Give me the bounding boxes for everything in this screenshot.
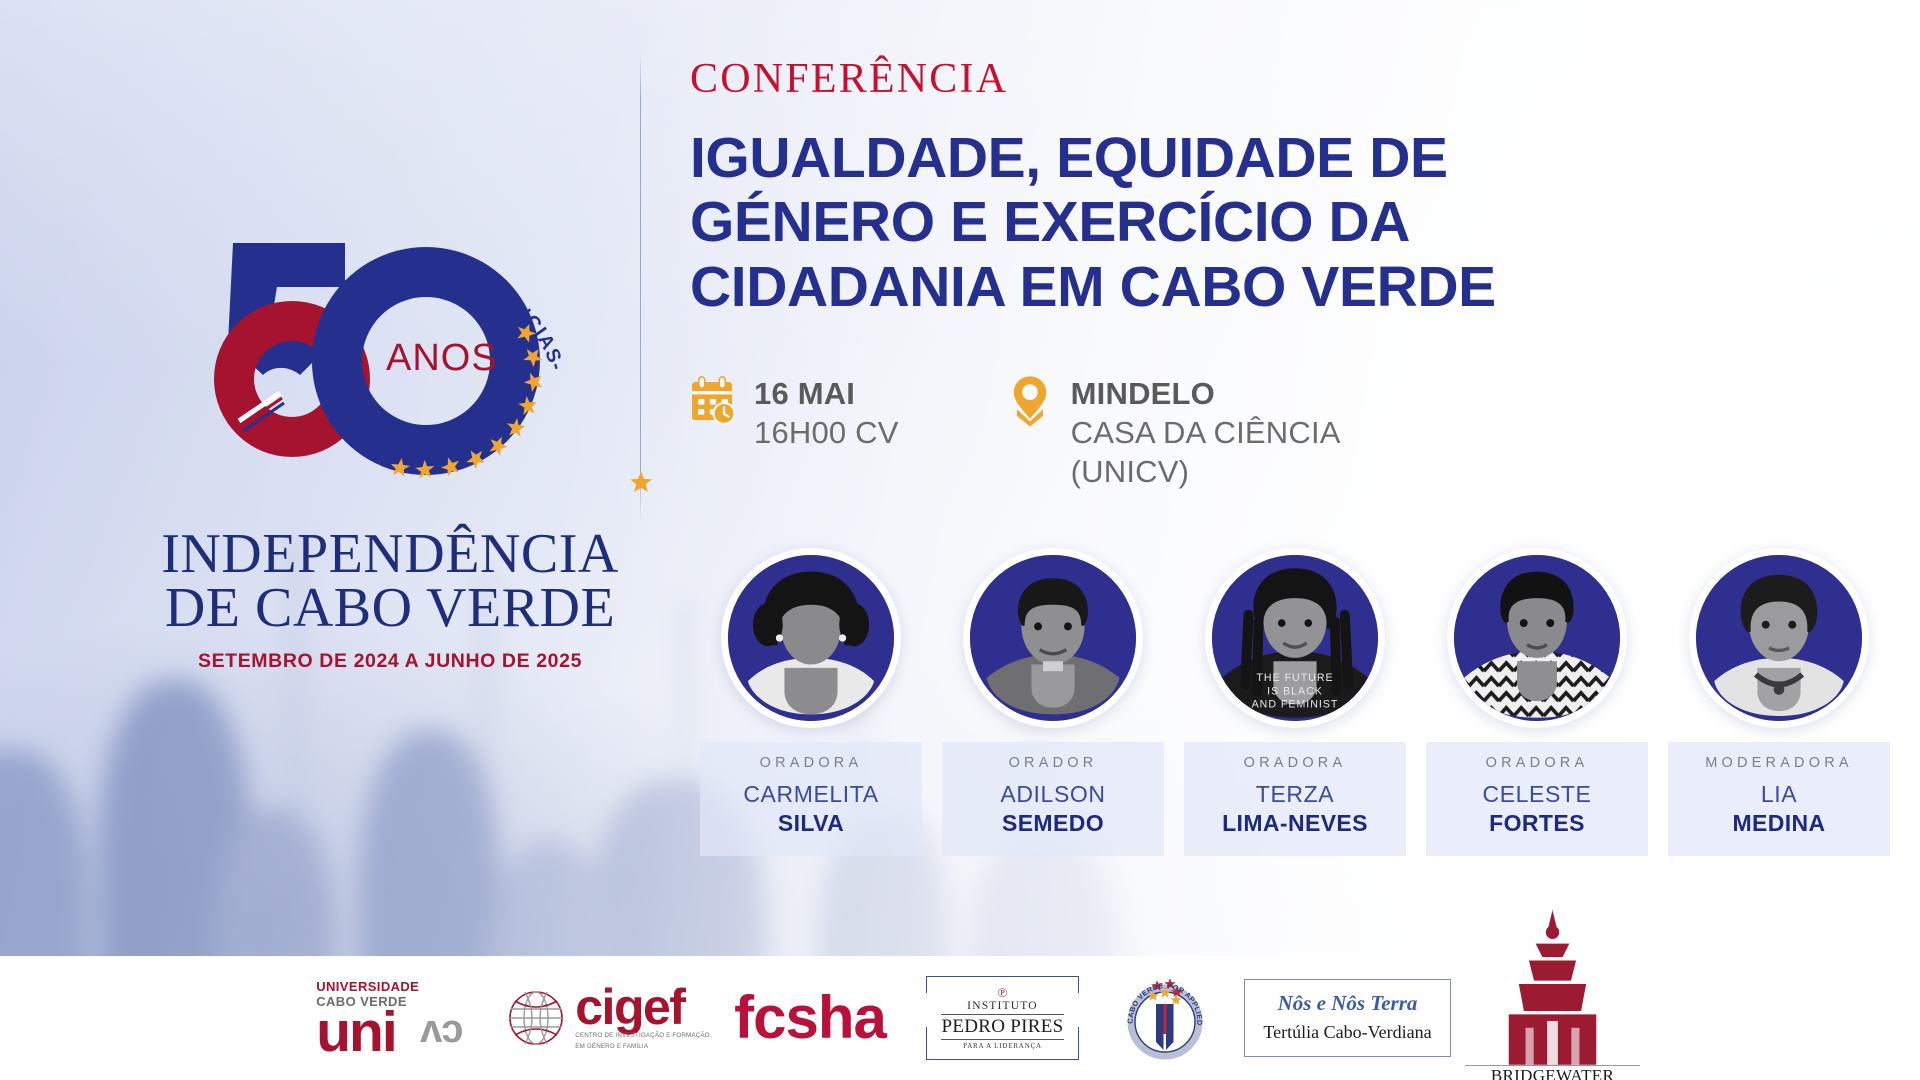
logo-title-line1: INDEPENDÊNCIA bbox=[140, 527, 640, 581]
speaker-first-name: ADILSON bbox=[948, 780, 1158, 809]
partner-logos-bar: UNIVERSIDADE CABO VERDE uni cv bbox=[0, 956, 1920, 1080]
fifty-years-mark: ANOS CICLO DE CONFERÊNCIAS-DEBATE bbox=[180, 225, 600, 515]
event-city: MINDELO bbox=[1071, 375, 1341, 413]
avatar bbox=[1447, 548, 1627, 728]
speaker-last-name: MEDINA bbox=[1674, 809, 1884, 839]
speaker-role: ORADOR bbox=[948, 755, 1158, 771]
speaker-role: ORADORA bbox=[1432, 755, 1642, 771]
speaker-first-name: LIA bbox=[1674, 780, 1884, 809]
conference-poster: ANOS CICLO DE CONFERÊNCIAS-DEBATE bbox=[0, 0, 1920, 1080]
event-location: MINDELO CASA DA CIÊNCIA (UNICV) bbox=[1007, 375, 1341, 492]
speaker-role: ORADORA bbox=[1190, 755, 1400, 771]
speaker-name-card: ORADORA CARMELITA SILVA bbox=[700, 742, 922, 856]
speaker-name-card: MODERADORA LIA MEDINA bbox=[1668, 742, 1890, 856]
speakers-row: ORADORA CARMELITA SILVA bbox=[700, 548, 1890, 856]
location-text: MINDELO CASA DA CIÊNCIA (UNICV) bbox=[1071, 375, 1341, 492]
event-date: 16 MAI bbox=[754, 375, 899, 413]
speaker-role: ORADORA bbox=[706, 755, 916, 771]
unicv-cv-mark: cv bbox=[421, 1018, 464, 1050]
speaker-card: ORADORA CARMELITA SILVA bbox=[700, 548, 922, 856]
logo-cvcar: CABO VERDEAN CENTER FOR APPLIED RESEARCH bbox=[1100, 976, 1230, 1060]
title-line-1: IGUALDADE, EQUIDADE DE bbox=[690, 126, 1790, 190]
unicv-line1: UNIVERSIDADE bbox=[316, 980, 419, 994]
avatar-image bbox=[1696, 555, 1862, 721]
avatar bbox=[963, 548, 1143, 728]
avatar bbox=[1689, 548, 1869, 728]
speaker-card: ORADOR ADILSON SEMEDO bbox=[942, 548, 1164, 856]
logo-date-range: SETEMBRO DE 2024 A JUNHO DE 2025 bbox=[140, 650, 640, 673]
speaker-role: MODERADORA bbox=[1674, 755, 1884, 771]
datetime-text: 16 MAI 16H00 CV bbox=[754, 375, 899, 452]
bridgewater-name: BRIDGEWATER bbox=[1465, 1065, 1640, 1080]
speaker-card: THE FUTURE IS BLACK AND FEMINIST ORADORA… bbox=[1184, 548, 1406, 856]
logo-title-line2: DE CABO VERDE bbox=[140, 581, 640, 635]
ipp-monogram: ℗ bbox=[941, 986, 1063, 999]
cigef-sub-line1: CENTRO DE INVESTIGAÇÃO E FORMAÇÃO bbox=[575, 1032, 710, 1040]
logo-cigef: cigef CENTRO DE INVESTIGAÇÃO E FORMAÇÃO … bbox=[500, 985, 715, 1051]
avatar-image: THE FUTURE IS BLACK AND FEMINIST bbox=[1212, 555, 1378, 721]
cigef-wordmark: cigef bbox=[575, 985, 710, 1030]
svg-text:THE FUTURE: THE FUTURE bbox=[1256, 672, 1333, 684]
speaker-name-card: ORADORA CELESTE FORTES bbox=[1426, 742, 1648, 856]
speaker-last-name: LIMA-NEVES bbox=[1190, 809, 1400, 839]
logo-instituto-pedro-pires: ℗ INSTITUTO PEDRO PIRES PARA A LIDERANÇA bbox=[905, 976, 1100, 1060]
event-info: 16 MAI 16H00 CV MINDELO CASA DA CIÊNCIA … bbox=[690, 375, 1341, 492]
speaker-name-card: ORADORA TERZA LIMA-NEVES bbox=[1184, 742, 1406, 856]
nos-title: Nôs e Nôs Terra bbox=[1263, 991, 1431, 1016]
headline-block: CONFERÊNCIA IGUALDADE, EQUIDADE DE GÉNER… bbox=[690, 58, 1790, 319]
avatar: THE FUTURE IS BLACK AND FEMINIST bbox=[1205, 548, 1385, 728]
ipp-line3: PARA A LIDERANÇA bbox=[941, 1042, 1063, 1050]
title-line-3: CIDADANIA EM CABO VERDE bbox=[690, 255, 1790, 319]
logo-unicv: UNIVERSIDADE CABO VERDE uni cv bbox=[280, 980, 500, 1055]
speaker-card: ORADORA CELESTE FORTES bbox=[1426, 548, 1648, 856]
speaker-last-name: SEMEDO bbox=[948, 809, 1158, 839]
torch-seal-icon: CABO VERDEAN CENTER FOR APPLIED RESEARCH bbox=[1123, 976, 1207, 1060]
cigef-sub-line2: EM GÉNERO E FAMÍLIA bbox=[575, 1043, 710, 1051]
globe-icon bbox=[505, 987, 567, 1049]
svg-text:ANOS: ANOS bbox=[386, 337, 498, 379]
event-time: 16H00 CV bbox=[754, 413, 899, 453]
kicker-label: CONFERÊNCIA bbox=[690, 58, 1790, 100]
event-venue-line2: (UNICV) bbox=[1071, 452, 1341, 492]
logo-fcsha: fcsha bbox=[715, 991, 905, 1045]
speaker-name-card: ORADOR ADILSON SEMEDO bbox=[942, 742, 1164, 856]
speaker-first-name: CELESTE bbox=[1432, 780, 1642, 809]
speaker-last-name: FORTES bbox=[1432, 809, 1642, 839]
vertical-divider bbox=[640, 52, 641, 524]
avatar bbox=[721, 548, 901, 728]
speaker-first-name: CARMELITA bbox=[706, 780, 916, 809]
svg-text:IS BLACK: IS BLACK bbox=[1267, 685, 1323, 697]
svg-text:AND FEMINIST: AND FEMINIST bbox=[1252, 699, 1339, 711]
anniversary-logo: ANOS CICLO DE CONFERÊNCIAS-DEBATE bbox=[140, 225, 640, 655]
logo-title: INDEPENDÊNCIA DE CABO VERDE bbox=[140, 527, 640, 636]
unicv-wordmark: uni bbox=[316, 1009, 419, 1056]
calendar-clock-icon bbox=[690, 375, 736, 427]
logo-nos-e-nos-terra: Nôs e Nôs Terra Tertúlia Cabo-Verdiana bbox=[1230, 979, 1465, 1057]
page-title: IGUALDADE, EQUIDADE DE GÉNERO E EXERCÍCI… bbox=[690, 126, 1790, 319]
speaker-last-name: SILVA bbox=[706, 809, 916, 839]
avatar-image bbox=[970, 555, 1136, 721]
avatar-image bbox=[728, 555, 894, 721]
speaker-first-name: TERZA bbox=[1190, 780, 1400, 809]
star-icon bbox=[629, 470, 653, 494]
fcsha-wordmark: fcsha bbox=[734, 991, 886, 1045]
logo-bridgewater: BRIDGEWATER STATE UNIVERSITY PEDRO PIRES… bbox=[1465, 910, 1640, 1080]
map-pin-icon bbox=[1007, 375, 1053, 427]
speaker-card: MODERADORA LIA MEDINA bbox=[1668, 548, 1890, 856]
title-line-2: GÉNERO E EXERCÍCIO DA bbox=[690, 190, 1790, 254]
event-datetime: 16 MAI 16H00 CV bbox=[690, 375, 899, 492]
ipp-line2: PEDRO PIRES bbox=[941, 1014, 1063, 1040]
ipp-line1: INSTITUTO bbox=[941, 999, 1063, 1015]
event-venue-line1: CASA DA CIÊNCIA bbox=[1071, 413, 1341, 453]
nos-subtitle: Tertúlia Cabo-Verdiana bbox=[1263, 1021, 1431, 1044]
avatar-image bbox=[1454, 555, 1620, 721]
tower-icon bbox=[1465, 910, 1640, 1065]
